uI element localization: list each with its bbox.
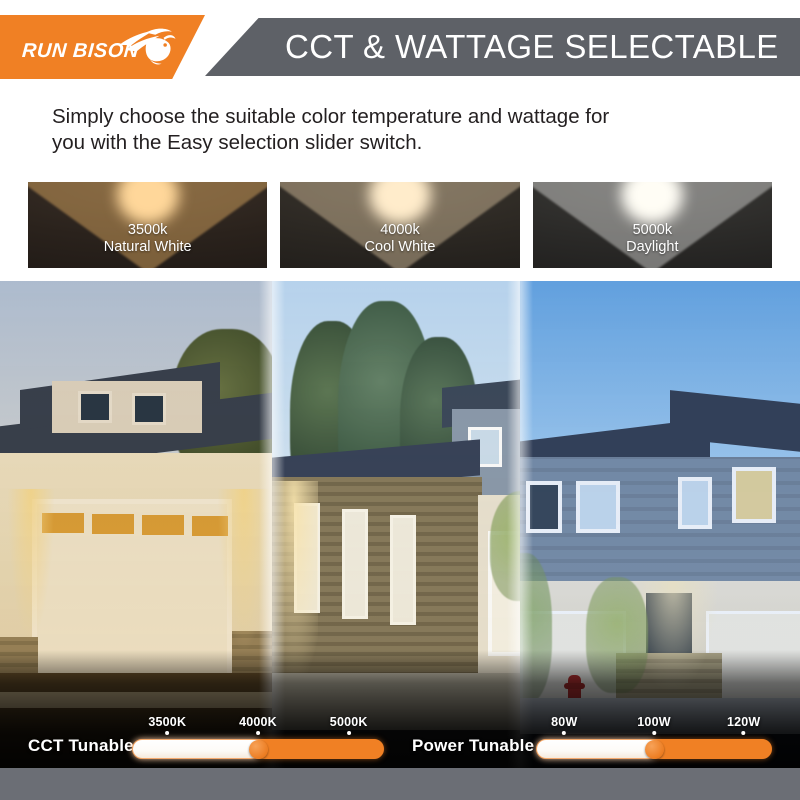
power-tick: 120W [727,715,760,735]
cct-kelvin-label: 5000k [533,222,772,239]
subtitle-line-1: Simply choose the suitable color tempera… [52,104,752,130]
window [526,481,562,533]
house-photo [0,281,800,768]
power-tick-dot [562,731,566,735]
window [132,393,166,425]
cct-name-label: Cool White [280,239,519,256]
power-tick-dot [742,731,746,735]
power-tick-label: 80W [551,715,577,729]
power-tick-dot [652,731,656,735]
cct-tick-dot [347,731,351,735]
cct-tick: 3500K [148,715,186,735]
power-slider-track[interactable] [536,739,772,759]
cct-slider-track[interactable] [132,739,384,759]
power-slider-knob[interactable] [645,740,664,759]
cct-name-label: Daylight [533,239,772,256]
page-header: RUN BISON CCT & WATTAGE SELECTABLE [0,0,800,90]
page-title: CCT & WATTAGE SELECTABLE [285,28,779,66]
power-tick-label: 100W [637,715,670,729]
fire-hydrant-arm [564,683,585,689]
cct-slider-knob[interactable] [249,740,268,759]
slider-row: CCT Tunable 3500K 4000K 5000K [0,705,800,768]
cct-slider-fill [133,740,258,758]
power-tick: 100W [637,715,670,735]
cct-tick-dot [165,731,169,735]
cct-ticks: 3500K 4000K 5000K [132,715,384,739]
window [78,391,112,423]
cct-sample-panel: 4000k Cool White [280,182,519,268]
light-wash-glow [272,481,318,691]
window [678,477,712,529]
garage-window [92,514,134,534]
cct-tick-label: 5000K [330,715,368,729]
cct-sample-panel: 3500k Natural White [28,182,267,268]
cct-tick: 5000K [330,715,368,735]
power-ticks: 80W 100W 120W [536,715,772,739]
cct-tick: 4000K [239,715,277,735]
tall-window [342,509,368,619]
cct-sample-labels: 4000k Cool White [280,222,519,255]
sapling [586,577,648,693]
dormer [52,381,202,433]
cct-sample-panels: 3500k Natural White 4000k Cool White 500… [28,182,772,268]
cct-kelvin-label: 3500k [28,222,267,239]
cct-sample-labels: 3500k Natural White [28,222,267,255]
cct-sample-panel: 5000k Daylight [533,182,772,268]
cct-kelvin-label: 4000k [280,222,519,239]
subtitle: Simply choose the suitable color tempera… [52,104,752,156]
subtitle-line-2: you with the Easy selection slider switc… [52,130,752,156]
bison-head-icon [114,22,176,66]
cct-track-area: 3500K 4000K 5000K [132,715,384,759]
photo-zone-4000k [272,281,520,768]
garage-window [142,515,184,535]
cct-tunable-group: CCT Tunable 3500K 4000K 5000K [28,705,384,768]
power-tunable-group: Power Tunable 80W 100W 120W [412,705,772,768]
power-track-area: 80W 100W 120W [536,715,772,759]
power-slider-label: Power Tunable [412,736,534,756]
brand-logo-banner: RUN BISON [0,15,205,79]
photo-zone-3500k [0,281,272,768]
power-tick: 80W [551,715,577,735]
power-tick-label: 120W [727,715,760,729]
cct-slider-label: CCT Tunable [28,736,134,756]
light-wash-glow [218,489,270,649]
cct-name-label: Natural White [28,239,267,256]
power-slider-fill [537,740,654,758]
cct-tick-label: 3500K [148,715,186,729]
title-banner: CCT & WATTAGE SELECTABLE [205,18,800,76]
tall-window [390,515,416,625]
cct-sample-labels: 5000k Daylight [533,222,772,255]
light-wash-glow [8,489,54,639]
photo-zone-5000k [520,281,800,768]
cct-tick-dot [256,731,260,735]
lit-window [732,467,776,523]
logo-wrap: RUN BISON [22,24,182,70]
window [576,481,620,533]
cct-tick-label: 4000K [239,715,277,729]
footer-bar [0,768,800,800]
